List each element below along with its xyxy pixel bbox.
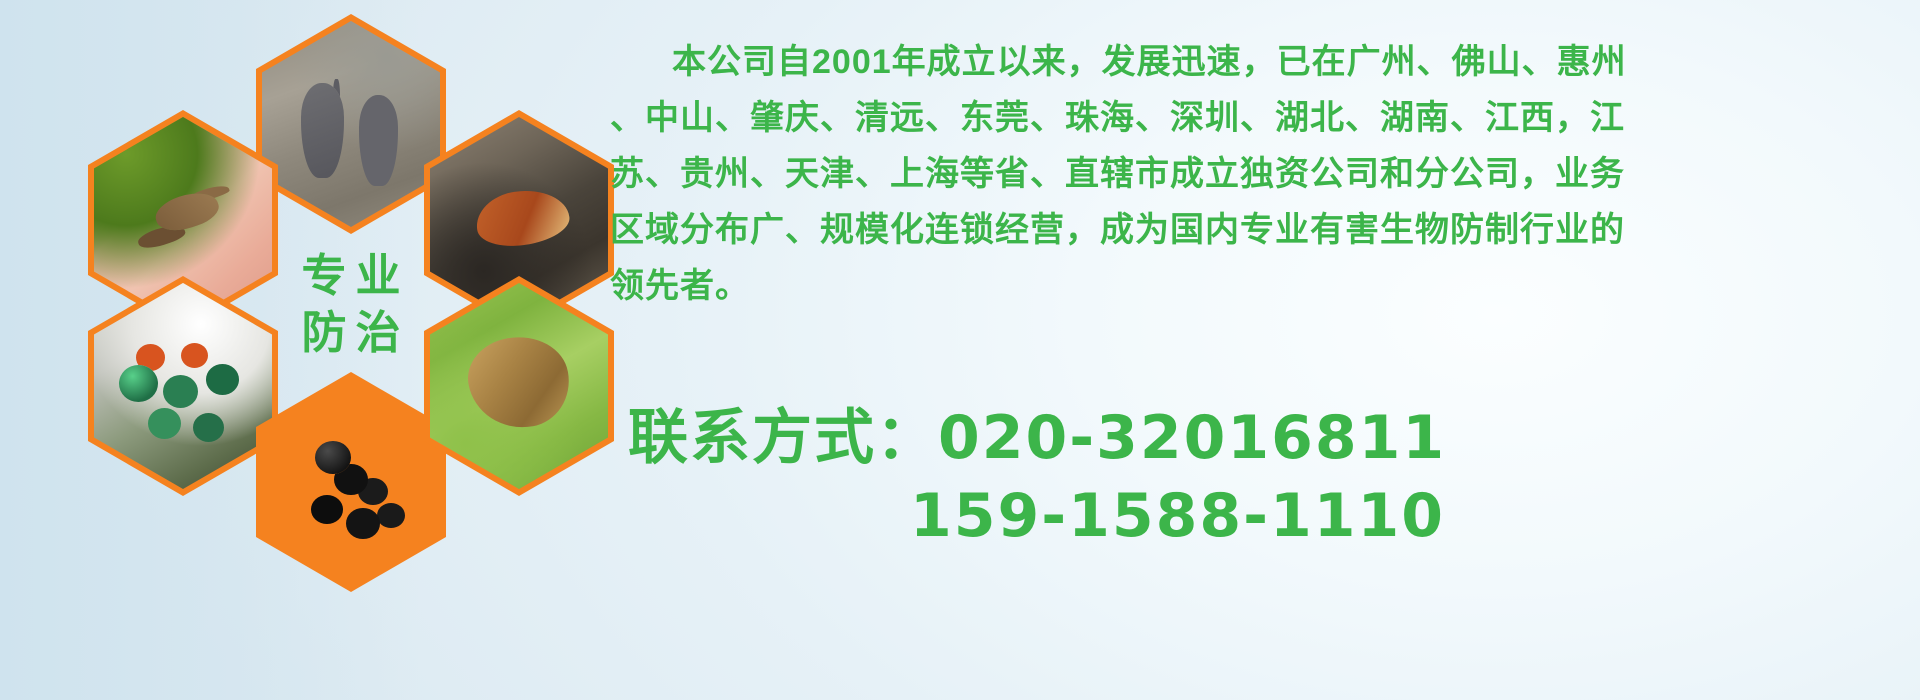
description-line-4: 区域分布广、规模化连锁经营，成为国内专业有害生物防制行业的 <box>610 202 1900 258</box>
hex-inner <box>94 283 272 489</box>
phone-secondary[interactable]: 159-1588-1110 <box>628 476 1920 556</box>
hex-cell-flies-photo <box>88 276 278 496</box>
stinkbug-photo <box>430 283 608 489</box>
description-line-3: 苏、贵州、天津、上海等省、直辖市成立独资公司和分公司，业务 <box>610 146 1900 202</box>
slogan-line-1: 专业 <box>292 252 409 299</box>
hex-cell-stinkbug-photo <box>424 276 614 496</box>
description-line-1: 本公司自2001年成立以来，发展迅速，已在广州、佛山、惠州 <box>610 34 1900 90</box>
description-line-2: 、中山、肇庆、清远、东莞、珠海、深圳、湖北、湖南、江西，江 <box>610 90 1900 146</box>
phone-primary[interactable]: 020-32016811 <box>938 403 1446 473</box>
hex-inner <box>430 283 608 489</box>
hex-inner: 专业 防治 <box>256 194 446 414</box>
slogan-line-2: 防治 <box>292 309 409 356</box>
honeycomb-graphic: 专业 防治 <box>88 0 588 700</box>
contact-primary-line: 联系方式：020-32016811 <box>628 400 1920 476</box>
flies-photo <box>94 283 272 489</box>
contact-block: 联系方式：020-32016811 159-1588-1110 <box>628 400 1920 556</box>
company-description: 本公司自2001年成立以来，发展迅速，已在广州、佛山、惠州 、中山、肇庆、清远、… <box>610 34 1900 314</box>
hex-cell-center-label: 专业 防治 <box>256 194 446 414</box>
promo-banner: 专业 防治 本公司自2001年成立以来，发展迅速，已在广州、佛山、惠州 、中山、… <box>0 0 1920 700</box>
contact-label: 联系方式： <box>628 404 938 471</box>
center-slogan: 专业 防治 <box>256 194 446 414</box>
description-line-5: 领先者。 <box>610 258 1900 314</box>
